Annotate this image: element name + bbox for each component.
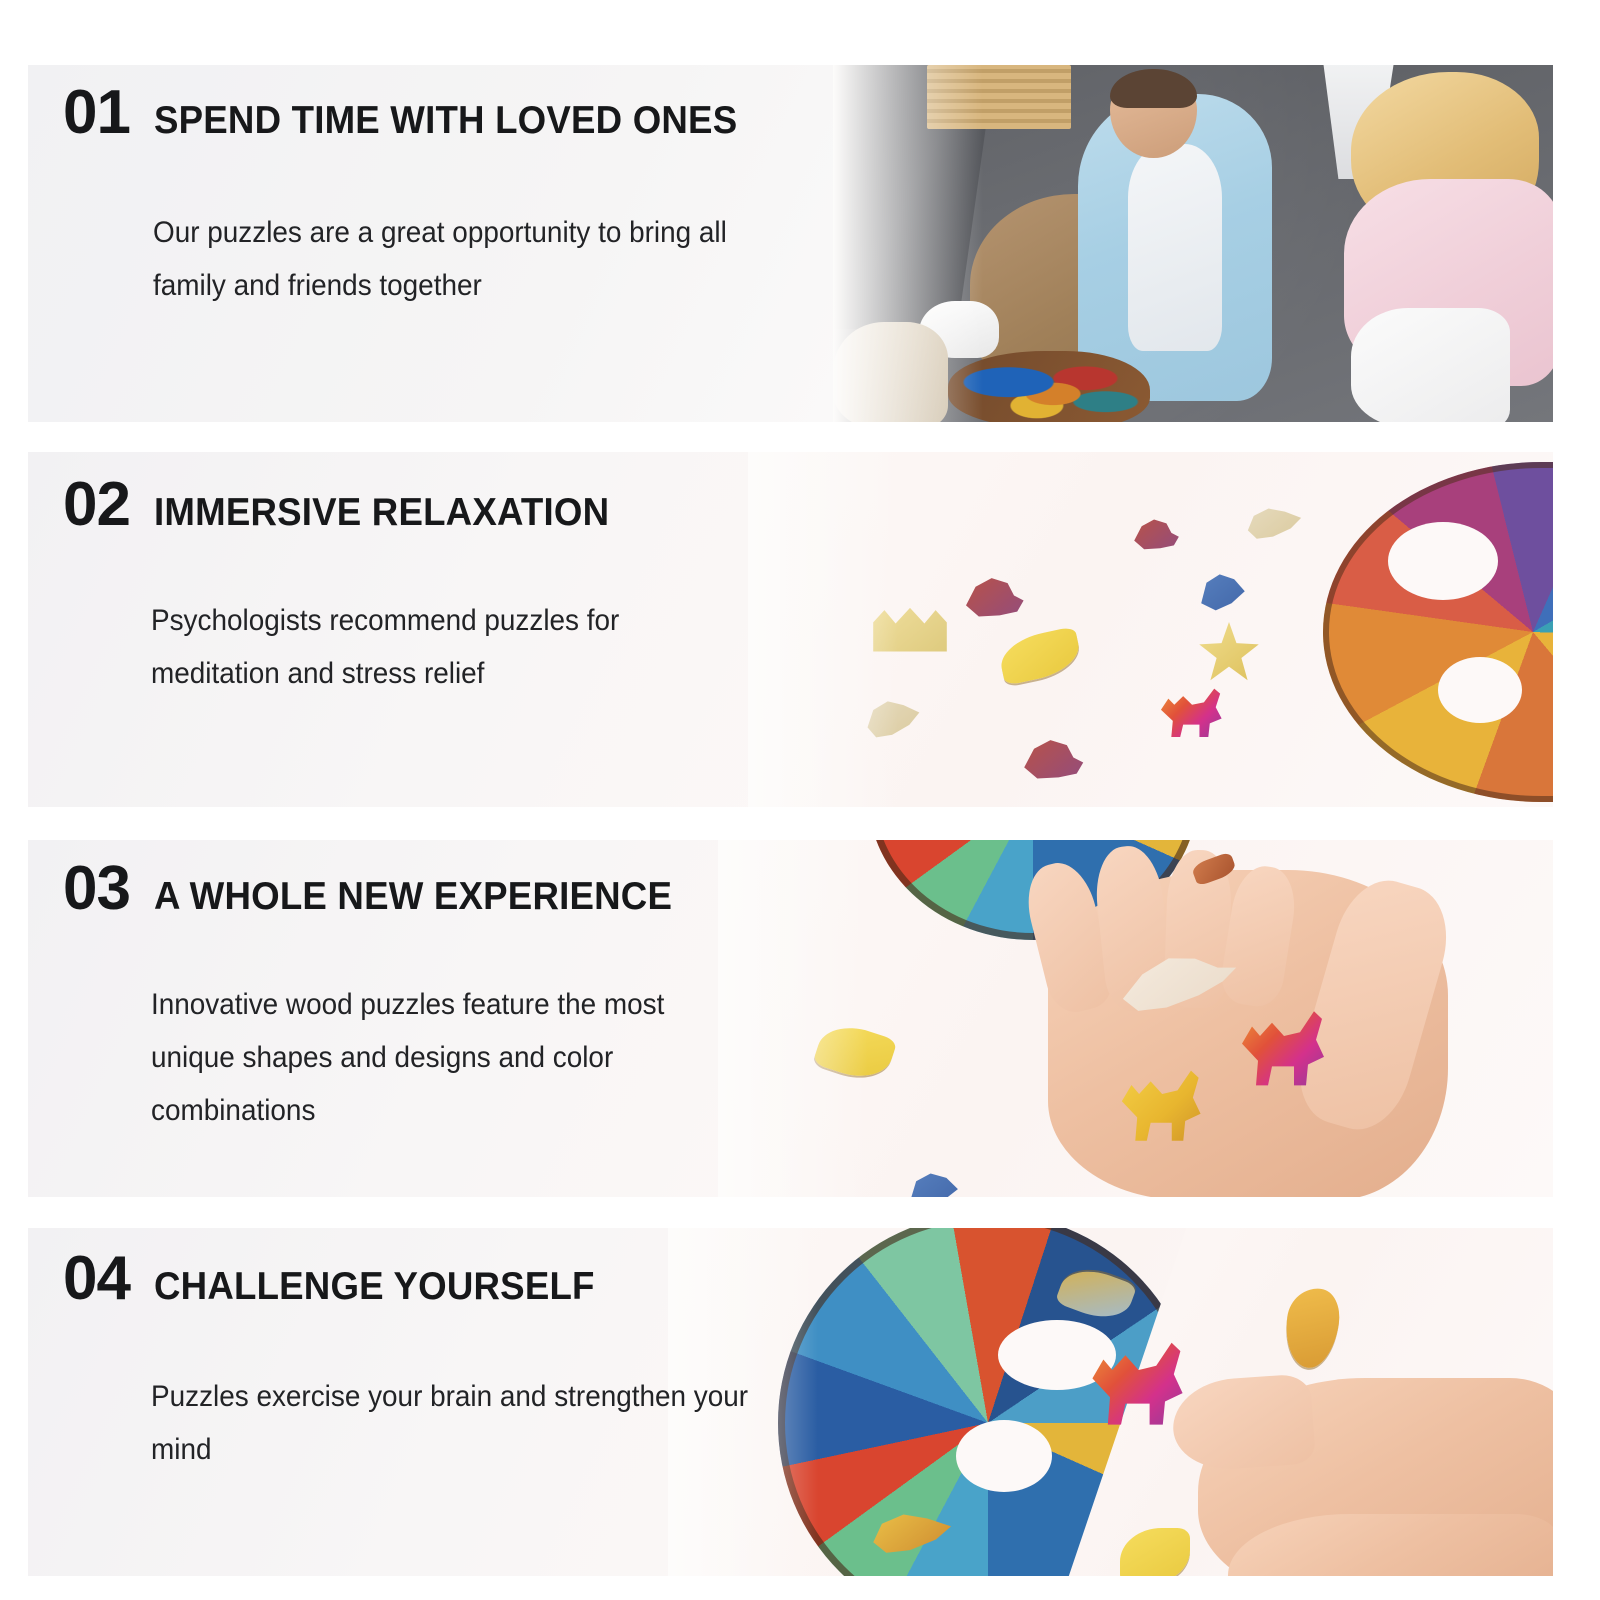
leaf-puzzle-piece: [812, 1018, 897, 1087]
feature-number-03: 03: [63, 858, 130, 920]
feature-number-04: 04: [63, 1248, 130, 1310]
feature-text-block-01: 01 SPEND TIME WITH LOVED ONES Our puzzle…: [63, 82, 843, 312]
feature-headline-01: 01 SPEND TIME WITH LOVED ONES: [63, 82, 843, 144]
puzzle-piece-red-bird: [1128, 507, 1190, 555]
colorful-animal-puzzle: [1323, 462, 1553, 802]
feature-title-02: IMMERSIVE RELAXATION: [154, 493, 609, 532]
feature-image-03: [718, 840, 1553, 1197]
feature-number-01: 01: [63, 82, 130, 144]
feature-image-01: [833, 65, 1553, 422]
blue-yellow-puzzle-piece: [896, 1160, 968, 1197]
puzzle-piece-whale: [1236, 494, 1310, 546]
puzzle-piece-dinosaur: [1016, 724, 1098, 786]
puzzle-piece-cat: [1158, 680, 1232, 742]
feature-card-03: 03 A WHOLE NEW EXPERIENCE Innovative woo…: [28, 840, 1553, 1197]
child-arm: [833, 322, 948, 422]
puzzle-piece-deer: [856, 684, 928, 746]
puzzle-piece-star: [1198, 622, 1260, 684]
feature-body-04: Puzzles exercise your brain and strength…: [151, 1370, 783, 1476]
feature-body-02: Psychologists recommend puzzles for medi…: [151, 594, 709, 700]
feature-body-03: Innovative wood puzzles feature the most…: [151, 978, 746, 1137]
feature-image-02: [748, 452, 1553, 807]
wooden-crate: [927, 65, 1071, 129]
feature-card-04: 04 CHALLENGE YOURSELF Puzzles exercise y…: [28, 1228, 1553, 1576]
feature-card-02: 02 IMMERSIVE RELAXATION Psychologists re…: [28, 452, 1553, 807]
feature-title-03: A WHOLE NEW EXPERIENCE: [154, 877, 672, 916]
feature-title-01: SPEND TIME WITH LOVED ONES: [154, 101, 737, 140]
puzzle-piece-fox: [958, 562, 1038, 624]
puzzle-piece-leaf: [996, 626, 1083, 686]
feature-body-01: Our puzzles are a great opportunity to b…: [153, 206, 795, 312]
feature-text-block-04: 04 CHALLENGE YOURSELF Puzzles exercise y…: [63, 1248, 831, 1476]
woman-white-trousers: [1351, 308, 1509, 422]
feature-list-page: 01 SPEND TIME WITH LOVED ONES Our puzzle…: [0, 0, 1600, 1600]
feature-text-block-02: 02 IMMERSIVE RELAXATION Psychologists re…: [63, 474, 751, 700]
sofa-edge: [833, 65, 997, 329]
puzzle-piece-blue-bird: [1188, 560, 1254, 620]
feature-headline-04: 04 CHALLENGE YOURSELF: [63, 1248, 831, 1310]
puzzle-cutout: [956, 1420, 1052, 1492]
feature-title-04: CHALLENGE YOURSELF: [154, 1267, 595, 1306]
man-white-tshirt: [1128, 144, 1222, 351]
floor-puzzle: [948, 351, 1150, 422]
puzzle-cutout: [1388, 522, 1498, 600]
puzzle-cutout: [1438, 657, 1522, 723]
feature-headline-03: 03 A WHOLE NEW EXPERIENCE: [63, 858, 791, 920]
feature-number-02: 02: [63, 474, 130, 536]
feature-text-block-03: 03 A WHOLE NEW EXPERIENCE Innovative woo…: [63, 858, 791, 1137]
white-sneaker: [919, 301, 998, 358]
feature-card-01: 01 SPEND TIME WITH LOVED ONES Our puzzle…: [28, 65, 1553, 422]
feature-headline-02: 02 IMMERSIVE RELAXATION: [63, 474, 751, 536]
puzzle-piece-crown: [870, 600, 950, 656]
